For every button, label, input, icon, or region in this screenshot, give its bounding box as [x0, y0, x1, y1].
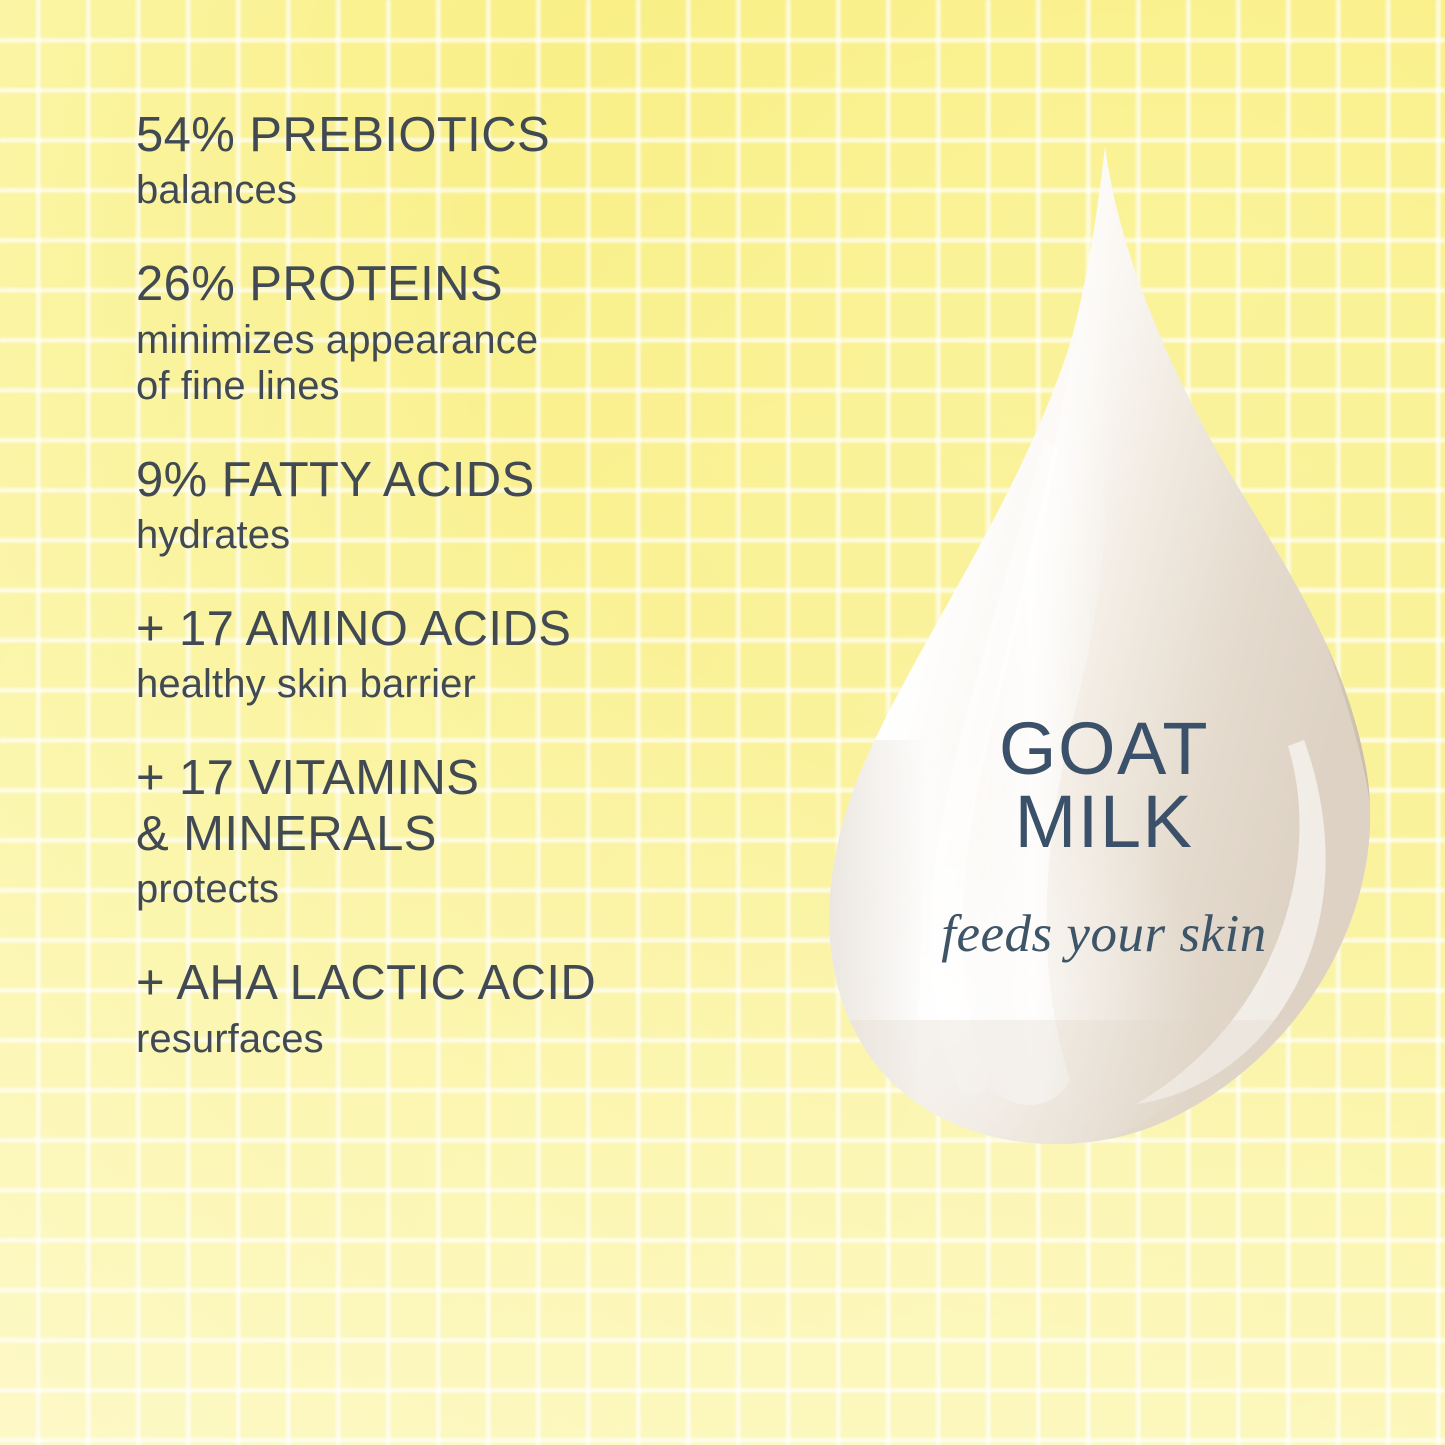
ingredient-benefit: healthy skin barrier [136, 661, 836, 707]
ingredient-item-proteins: 26% PROTEINS minimizes appearance of fin… [136, 257, 836, 408]
ingredient-title: + AHA LACTIC ACID [136, 956, 836, 1011]
ingredient-benefit: hydrates [136, 512, 836, 558]
brand-line-goat: GOAT [818, 712, 1390, 785]
ingredient-item-fatty-acids: 9% FATTY ACIDS hydrates [136, 453, 836, 558]
droplet-bottom-shade [818, 1020, 1390, 1160]
ingredient-benefit: resurfaces [136, 1016, 836, 1062]
ingredient-list: 54% PREBIOTICS balances 26% PROTEINS min… [136, 108, 836, 1062]
ingredient-benefit: minimizes appearance of fine lines [136, 317, 836, 409]
ingredient-benefit: protects [136, 866, 836, 912]
brand-line-milk: MILK [818, 785, 1390, 858]
ingredient-title: 26% PROTEINS [136, 257, 836, 312]
ingredient-item-aha-lactic-acid: + AHA LACTIC ACID resurfaces [136, 956, 836, 1061]
ingredient-title: + 17 AMINO ACIDS [136, 602, 836, 657]
ingredient-title: 54% PREBIOTICS [136, 108, 836, 163]
droplet-brand-text: GOAT MILK [818, 712, 1390, 859]
ingredient-item-vitamins-minerals: + 17 VITAMINS & MINERALS protects [136, 751, 836, 912]
ingredient-benefit: balances [136, 167, 836, 213]
ingredient-item-prebiotics: 54% PREBIOTICS balances [136, 108, 836, 213]
milk-droplet-graphic: GOAT MILK feeds your skin [818, 140, 1390, 1160]
ingredient-item-amino-acids: + 17 AMINO ACIDS healthy skin barrier [136, 602, 836, 707]
product-infographic: 54% PREBIOTICS balances 26% PROTEINS min… [0, 0, 1445, 1445]
ingredient-title: + 17 VITAMINS & MINERALS [136, 751, 836, 862]
milk-droplet-icon [818, 140, 1390, 1160]
droplet-tagline: feeds your skin [818, 904, 1390, 964]
ingredient-title: 9% FATTY ACIDS [136, 453, 836, 508]
